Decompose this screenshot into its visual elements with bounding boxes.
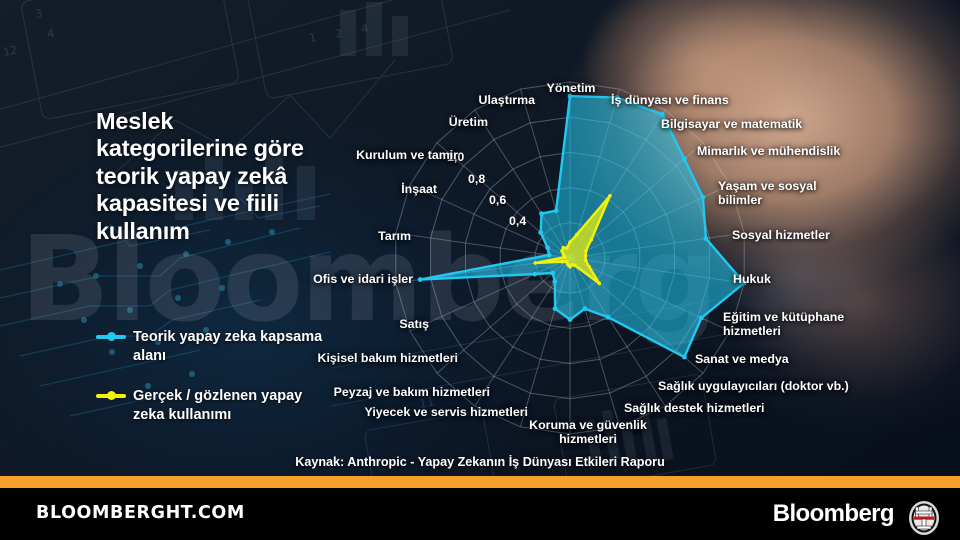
cat-label-kurulum-tamir: Kurulum ve tamir [356, 148, 458, 162]
orange-divider-bar [0, 476, 960, 488]
ht-logo-icon [906, 500, 942, 536]
source-note: Kaynak: Anthropic - Yapay Zekanın İş Dün… [0, 455, 960, 469]
site-url: BLOOMBERGHT.COM [36, 503, 245, 523]
rtick-label-4: 0,4 [509, 214, 526, 228]
bloomberg-wordmark: Bloomberg [773, 500, 894, 528]
cat-label-yasam-sosyal-bilimler: Yaşam ve sosyal bilimler [718, 179, 848, 208]
cat-label-saglik-destek: Sağlık destek hizmetleri [624, 401, 764, 415]
cat-label-saglik-uygulayicilari: Sağlık uygulayıcıları (doktor vb.) [658, 379, 849, 393]
cat-label-ofis-idari: Ofis ve idari işler [313, 272, 413, 286]
cat-label-satis: Satış [399, 317, 429, 331]
cat-label-ulastirma: Ulaştırma [479, 93, 535, 107]
cat-label-mimarlik-muhendislik: Mimarlık ve mühendislik [697, 144, 840, 158]
cat-label-sosyal-hizmetler: Sosyal hizmetler [732, 228, 830, 242]
cat-label-yonetim: Yönetim [547, 81, 596, 95]
cat-label-peyzaj-bakim: Peyzaj ve bakım hizmetleri [334, 385, 490, 399]
rtick-label-2: 0,8 [468, 172, 485, 186]
cat-label-insaat: İnşaat [401, 182, 437, 196]
cat-label-hukuk: Hukuk [733, 272, 771, 286]
cat-label-sanat-medya: Sanat ve medya [695, 352, 789, 366]
cat-label-kisisel-bakim: Kişisel bakım hizmetleri [318, 351, 458, 365]
cat-label-is-dunyasi-finans: İş dünyası ve finans [611, 93, 729, 107]
cat-label-egitim-kutuphane: Eğitim ve kütüphane hizmetleri [723, 310, 863, 339]
cat-label-yiyecek-servis: Yiyecek ve servis hizmetleri [365, 405, 528, 419]
cat-label-bilgisayar-matematik: Bilgisayar ve matematik [661, 117, 802, 131]
radar-polygons [418, 94, 747, 360]
cat-label-uretim: Üretim [449, 115, 488, 129]
infographic-stage: 3 4 12 1 2 4 [0, 0, 960, 540]
cat-label-koruma-guvenlik: Koruma ve güvenlik hizmetleri [525, 418, 651, 447]
cat-label-tarim: Tarım [378, 229, 411, 243]
rtick-label-3: 0,6 [489, 193, 506, 207]
